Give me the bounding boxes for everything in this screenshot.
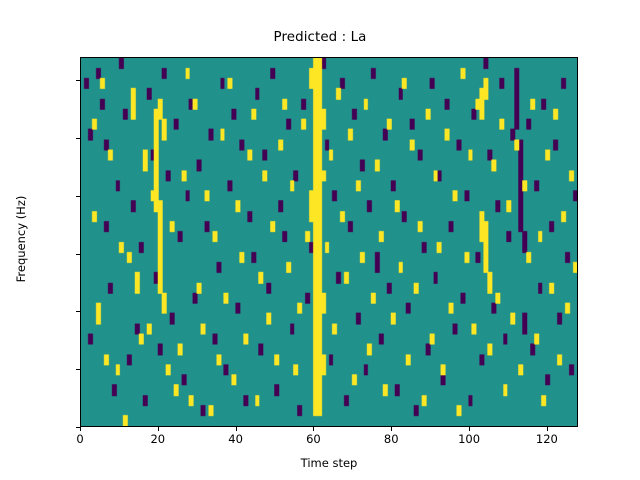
- y-axis-label: Frequency (Hz): [14, 114, 28, 364]
- heatmap-axes: [80, 57, 578, 427]
- y-tick-mark: [76, 138, 80, 139]
- spectrogram-heatmap: [81, 58, 577, 426]
- x-tick-label: 60: [283, 432, 343, 446]
- x-tick-label: 0: [50, 432, 110, 446]
- x-tick-mark: [313, 427, 314, 431]
- y-tick-mark: [76, 311, 80, 312]
- y-tick-mark: [76, 254, 80, 255]
- x-tick-mark: [547, 427, 548, 431]
- x-tick-mark: [236, 427, 237, 431]
- x-tick-label: 120: [517, 432, 577, 446]
- x-tick-label: 80: [361, 432, 421, 446]
- matplotlib-figure: Predicted : La Frequency (Hz) Time step …: [0, 0, 640, 480]
- y-tick-mark: [76, 369, 80, 370]
- x-tick-label: 20: [128, 432, 188, 446]
- y-tick-mark: [76, 196, 80, 197]
- x-axis-label: Time step: [80, 456, 578, 470]
- x-tick-label: 40: [206, 432, 266, 446]
- x-tick-label: 100: [439, 432, 499, 446]
- x-tick-mark: [469, 427, 470, 431]
- x-tick-mark: [391, 427, 392, 431]
- y-tick-mark: [76, 80, 80, 81]
- x-tick-mark: [158, 427, 159, 431]
- x-tick-mark: [80, 427, 81, 431]
- page-title: Predicted : La: [0, 30, 640, 45]
